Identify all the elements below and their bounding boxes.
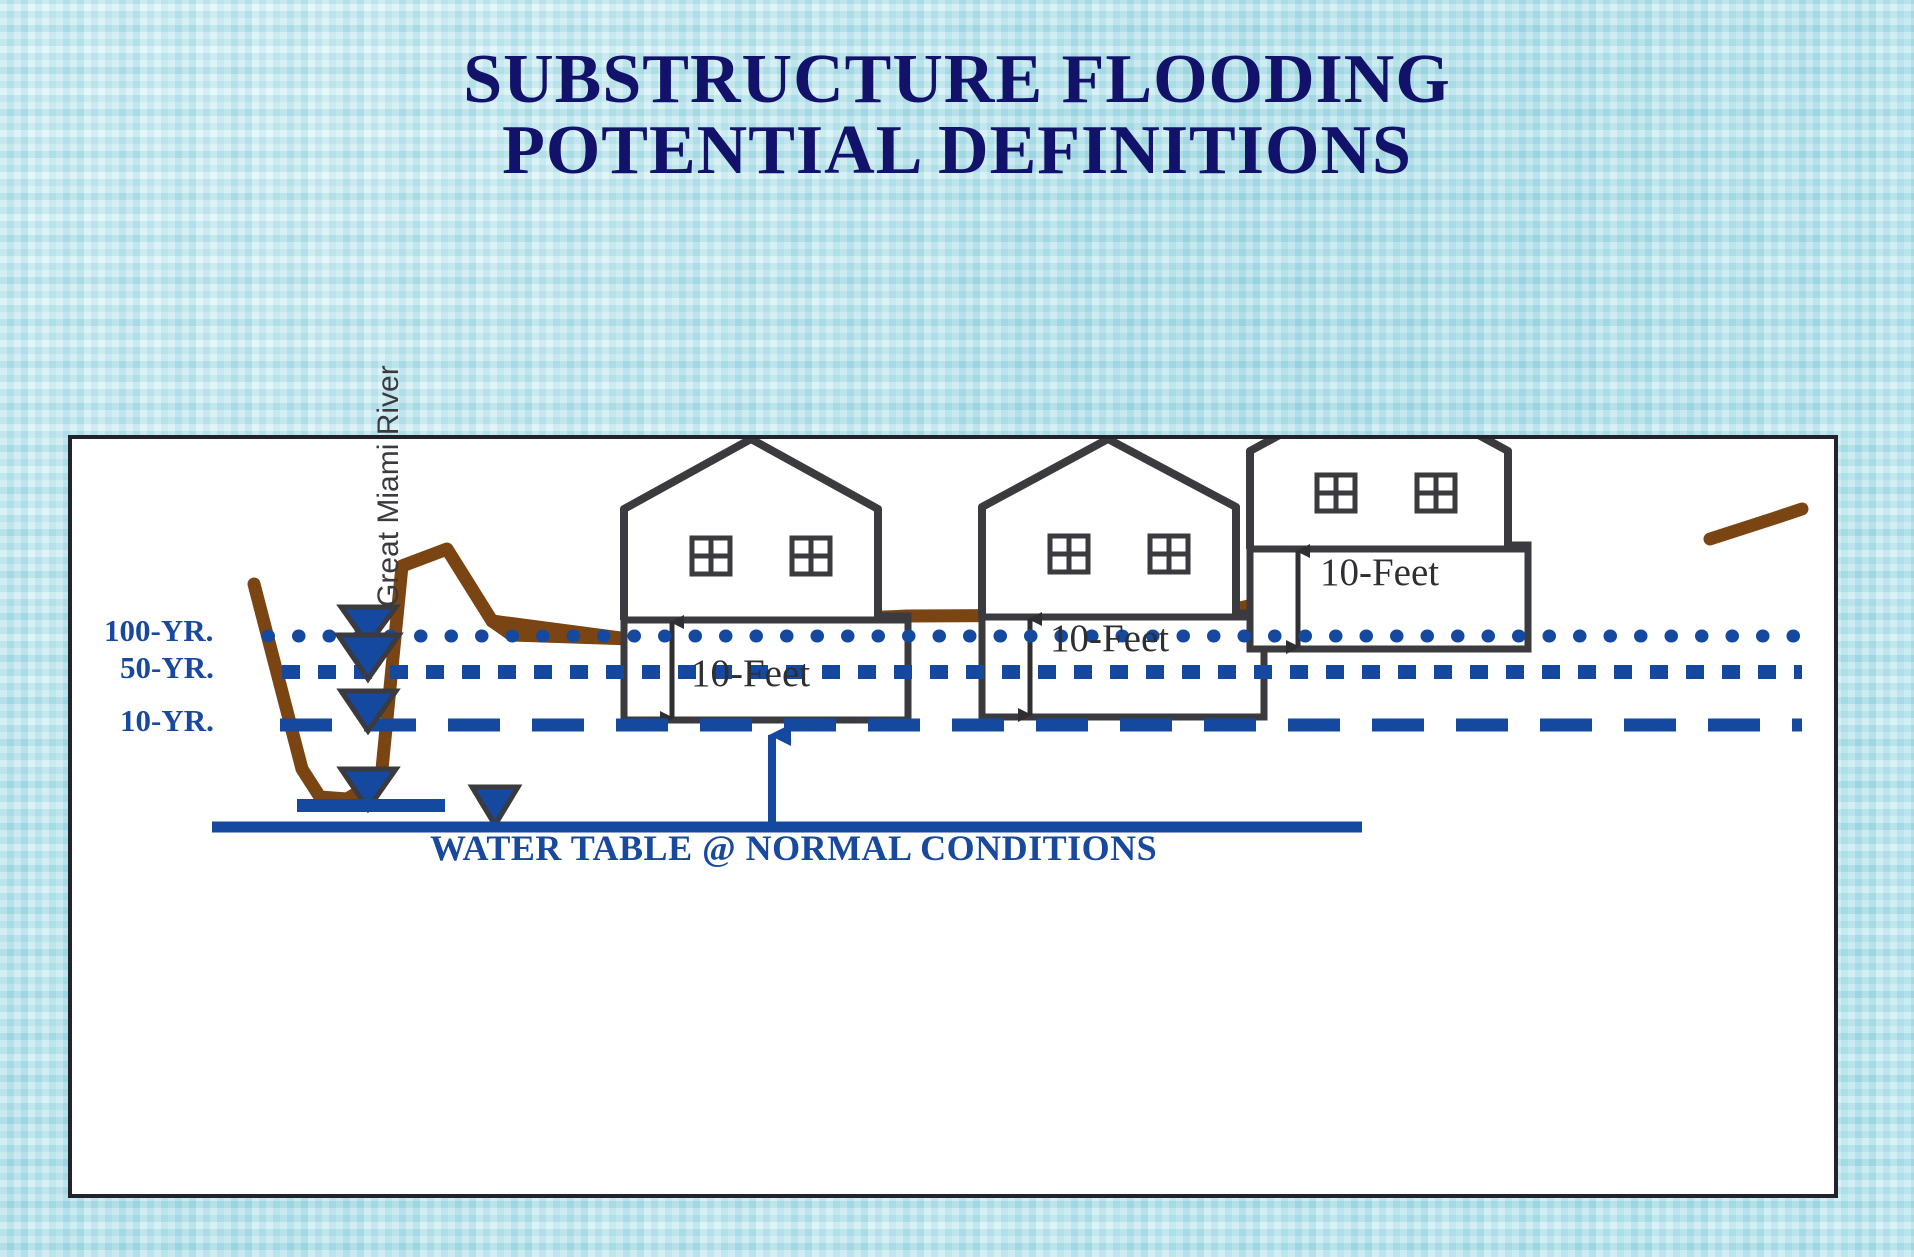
water-table-triangle (472, 787, 518, 825)
house-1-body (624, 439, 878, 620)
diagram-canvas (72, 439, 1834, 1194)
low-flow-water-surface (297, 799, 445, 812)
flooding-diagram: 100-YR. 50-YR. 10-YR. 10-Feet 10-Feet 10… (68, 435, 1838, 1198)
house-3-body (1250, 439, 1508, 549)
house-3 (1250, 439, 1528, 649)
house-2-body (982, 439, 1236, 617)
title-line-2: POTENTIAL DEFINITIONS (0, 115, 1914, 186)
page-title: SUBSTRUCTURE FLOODING POTENTIAL DEFINITI… (0, 44, 1914, 187)
title-line-1: SUBSTRUCTURE FLOODING (0, 44, 1914, 115)
ground-right-of-house3 (1710, 509, 1802, 539)
